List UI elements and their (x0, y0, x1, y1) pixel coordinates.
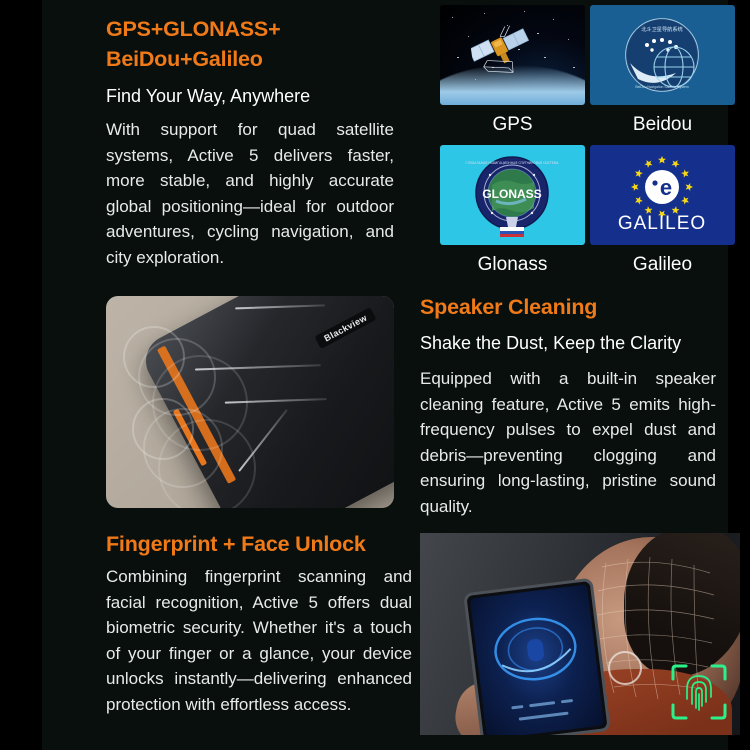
galileo-wordmark: GALILEO (618, 213, 706, 234)
speaker-heading: Speaker Cleaning (420, 292, 716, 322)
gnss-heading-line1: GPS+GLONASS+ (106, 14, 394, 44)
gps-satellite-photo (440, 5, 585, 105)
face-unlock-photo (420, 533, 740, 735)
tablet-screen (470, 584, 604, 735)
svg-text:e: e (660, 175, 672, 200)
gnss-subheading: Find Your Way, Anywhere (106, 83, 394, 109)
svg-text:BeiDou Navigation Satellite Sy: BeiDou Navigation Satellite System (635, 85, 689, 89)
gnss-tile-label: GPS (440, 105, 585, 145)
gnss-tile-grid: GPS (440, 5, 735, 285)
galileo-logo: e GALILEO (590, 145, 735, 245)
biometrics-heading: Fingerprint + Face Unlock (106, 528, 412, 560)
glonass-wordmark: GLONASS (482, 187, 541, 201)
biometrics-text-block: Fingerprint + Face Unlock Combining fing… (106, 528, 412, 717)
gnss-text-block: GPS+GLONASS+ BeiDou+Galileo Find Your Wa… (106, 14, 394, 270)
gnss-tile-galileo: e GALILEO Galileo (590, 145, 735, 285)
svg-text:北斗卫星导航系统: 北斗卫星导航系统 (641, 25, 683, 33)
satellite-illustration (468, 23, 537, 85)
svg-text:ГЛОБАЛЬНАЯ НАВИГАЦИОННАЯ СПУТН: ГЛОБАЛЬНАЯ НАВИГАЦИОННАЯ СПУТНИКОВАЯ СИС… (465, 161, 559, 165)
gnss-tile-label: Glonass (440, 245, 585, 285)
gnss-tile-label: Galileo (590, 245, 735, 285)
product-feature-page: GPS+GLONASS+ BeiDou+Galileo Find Your Wa… (0, 0, 750, 750)
fingerprint-scanner-icon (670, 663, 728, 721)
biometrics-body: Combining fingerprint scanning and facia… (106, 564, 412, 717)
glonass-logo: GLONASS ГЛОБАЛЬНАЯ НАВИГАЦИОННАЯ СПУТНИК… (440, 145, 585, 245)
gnss-body: With support for quad satellite systems,… (106, 117, 394, 270)
glonass-emblem: GLONASS ГЛОБАЛЬНАЯ НАВИГАЦИОННАЯ СПУТНИК… (440, 145, 585, 245)
tablet-device (463, 578, 611, 735)
gnss-tile-label: Beidou (590, 105, 735, 145)
gnss-tile-beidou: 北斗卫星导航系统 BeiDou Navigation Satellite Sys… (590, 5, 735, 145)
gnss-heading-line2: BeiDou+Galileo (106, 44, 394, 74)
gnss-tile-glonass: GLONASS ГЛОБАЛЬНАЯ НАВИГАЦИОННАЯ СПУТНИК… (440, 145, 585, 285)
speaker-text-block: Speaker Cleaning Shake the Dust, Keep th… (420, 292, 716, 519)
gnss-tile-gps: GPS (440, 5, 585, 145)
beidou-logo: 北斗卫星导航系统 BeiDou Navigation Satellite Sys… (590, 5, 735, 105)
beidou-emblem: 北斗卫星导航系统 BeiDou Navigation Satellite Sys… (590, 5, 735, 105)
rugged-phone-speaker-photo: Blackview (106, 296, 394, 508)
galileo-emblem: e GALILEO (590, 145, 735, 245)
unlock-animation (470, 584, 604, 735)
sound-wave (158, 419, 256, 508)
speaker-subheading: Shake the Dust, Keep the Clarity (420, 330, 716, 356)
speaker-body: Equipped with a built-in speaker cleanin… (420, 366, 716, 519)
content-canvas: GPS+GLONASS+ BeiDou+Galileo Find Your Wa… (42, 0, 728, 750)
